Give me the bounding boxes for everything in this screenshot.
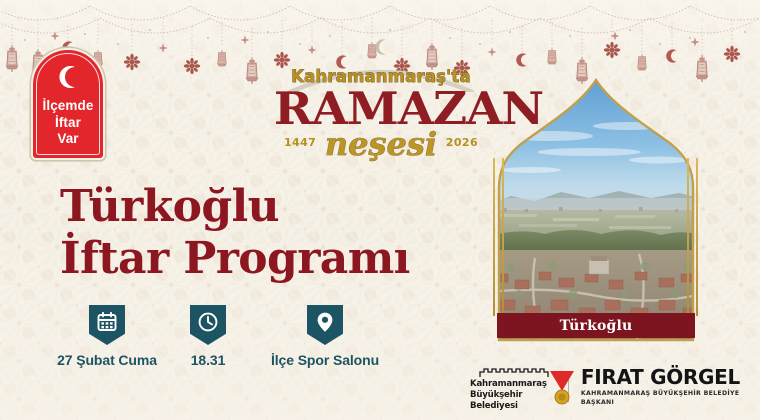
crescent-moon-icon: [53, 65, 83, 89]
logo-year-gregorian: 2026: [446, 136, 478, 149]
photo-arch-frame: [489, 78, 703, 342]
badge-line-3: Var: [31, 131, 105, 148]
logo-year-hijri: 1447: [284, 136, 316, 149]
date-shield: [89, 305, 125, 345]
badge-text-block: İlçemde İftar Var: [31, 98, 105, 148]
footer-logos: Kahramanmaraş Büyükşehir Belediyesi FIRA…: [470, 363, 750, 411]
clock-icon: [197, 311, 219, 333]
medal-ribbon-icon: [547, 370, 577, 406]
info-label-time: 18.31: [191, 352, 226, 368]
headline-line-1: Türkoğlu: [60, 181, 279, 232]
poster-root: İlçemde İftar Var Kahramanmaraş'ta RAMAZ…: [0, 0, 760, 420]
location-pin-icon: [314, 311, 336, 333]
mayor-title: KAHRAMANMARAŞ BÜYÜKŞEHİR BELEDİYE BAŞKAN…: [581, 389, 750, 407]
info-item-place: İlçe Spor Salonu: [254, 305, 396, 368]
info-item-date: 27 Şubat Cuma: [52, 305, 162, 368]
ilcemde-iftar-var-badge: İlçemde İftar Var: [31, 48, 105, 160]
calendar-icon: [96, 311, 118, 333]
badge-crescent: [31, 65, 105, 89]
frame-pillar-right-inner: [687, 158, 689, 316]
event-info-row: 27 Şubat Cuma 18.31 İlçe Spor Salonu: [52, 305, 402, 375]
mayor-name: FIRAT GÖRGEL: [581, 367, 750, 388]
time-shield: [190, 305, 226, 345]
mayor-block: FIRAT GÖRGEL KAHRAMANMARAŞ BÜYÜKŞEHİR BE…: [581, 367, 750, 407]
frame-pillar-right-outer: [696, 158, 698, 316]
page-title: Türkoğlu İftar Programı: [60, 181, 410, 285]
logo-crescent: [278, 38, 484, 56]
frame-pillar-left-outer: [493, 158, 495, 316]
photo-caption-banner: Türkoğlu: [497, 313, 695, 338]
castle-wall-icon: [479, 368, 551, 378]
place-shield: [307, 305, 343, 345]
frame-pillar-left-inner: [502, 158, 504, 316]
headline-line-2: İftar Programı: [60, 233, 410, 285]
badge-line-1: İlçemde: [31, 98, 105, 115]
municipality-logo: Kahramanmaraş Büyükşehir Belediyesi: [470, 365, 564, 409]
badge-line-2: İftar: [31, 115, 105, 132]
photo-content: [489, 78, 703, 342]
info-label-date: 27 Şubat Cuma: [57, 352, 157, 368]
info-item-time: 18.31: [162, 305, 254, 368]
info-label-place: İlçe Spor Salonu: [271, 352, 379, 368]
ramazan-nesesi-logo: Kahramanmaraş'ta RAMAZAN neşesi 1447 202…: [278, 36, 484, 164]
crescent-moon-icon: [371, 38, 391, 56]
